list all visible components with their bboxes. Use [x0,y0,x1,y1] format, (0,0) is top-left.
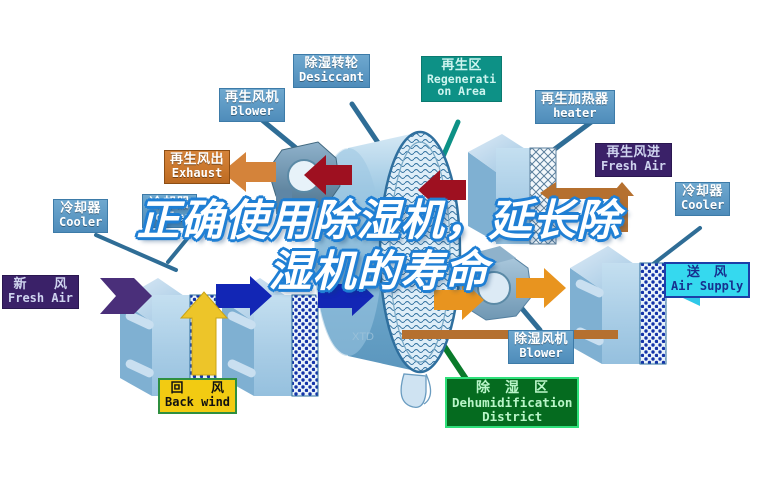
label-regen-blower[interactable]: 再生风机 Blower [219,88,285,122]
label-fresh-air[interactable]: 新 风 Fresh Air [2,275,79,309]
regen-heater-unit [468,134,556,244]
label-cooler-right[interactable]: 冷却器 Cooler [675,182,730,216]
svg-text:XTD: XTD [352,331,374,343]
label-regen-heater[interactable]: 再生加热器 heater [535,90,615,124]
label-cooler-left[interactable]: 冷却器 Cooler [53,199,108,233]
diagram-graphics: XTD [0,0,757,488]
label-cooler-mid[interactable]: 冷却器 Cooler [142,194,197,228]
label-regen-area[interactable]: 再生区 Regenerati on Area [421,56,502,102]
arrow-exhaust-out [222,152,276,192]
label-dehum-district[interactable]: 除 湿 区 Dehumidification District [445,377,579,428]
label-exhaust[interactable]: 再生风出 Exhaust [164,150,230,184]
label-back-wind[interactable]: 回 风 Back wind [158,378,237,414]
label-regen-fresh-air[interactable]: 再生风进 Fresh Air [595,143,672,177]
label-desiccant[interactable]: 除湿转轮 Desiccant [293,54,370,88]
label-dehum-blower[interactable]: 除湿风机 Blower [508,330,574,364]
label-air-supply[interactable]: 送 风 Air Supply [664,262,750,298]
dehumidifier-schematic-diagram: XTD [0,0,757,488]
drain-tray [401,374,430,407]
